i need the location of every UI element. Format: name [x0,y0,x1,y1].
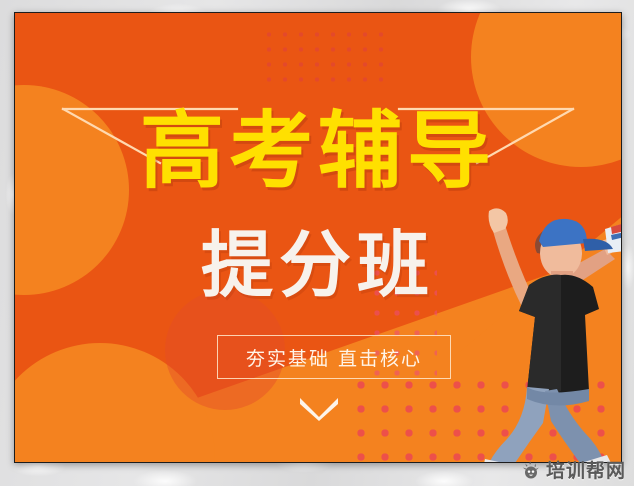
page-title: 高考辅导 [15,109,621,193]
watermark: 培训帮网 [517,453,632,486]
page-subtitle: 提分班 [15,229,621,301]
headline-block: 高考辅导 提分班 夯实基础 直击核心 [15,13,621,462]
tagline-box: 夯实基础 直击核心 [217,335,451,379]
poster-panel: 高考辅导 提分班 夯实基础 直击核心 [14,12,622,463]
tagline-text: 夯实基础 直击核心 [246,344,422,371]
smiling-sun-face-icon [521,460,541,480]
poster-stage: 高考辅导 提分班 夯实基础 直击核心 [0,0,634,486]
chevron-down-icon[interactable] [298,395,340,421]
watermark-text: 培训帮网 [546,456,626,483]
